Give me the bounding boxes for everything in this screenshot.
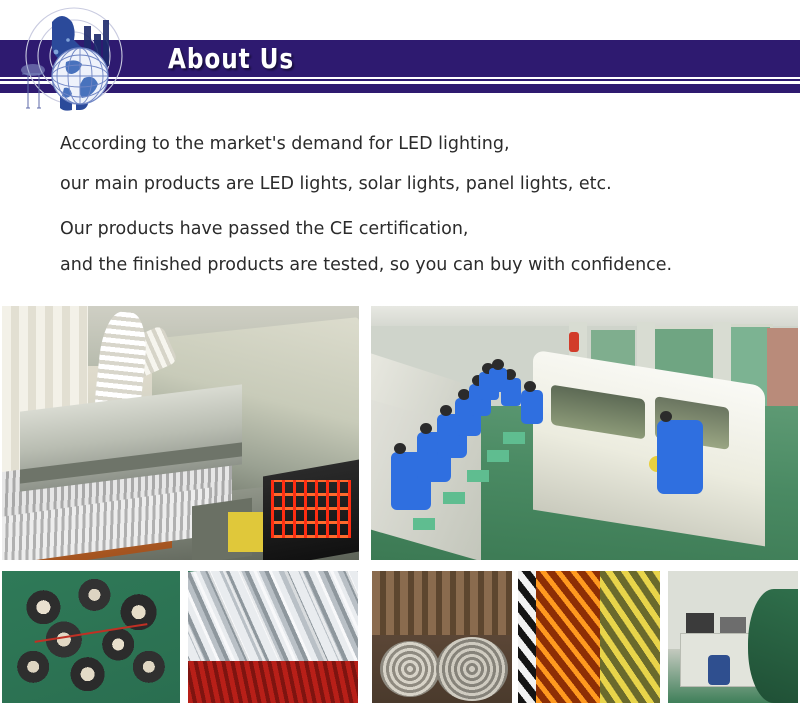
photo-led-tube-lights (188, 571, 358, 703)
photo-reflow-oven-production-line (2, 306, 359, 560)
reel-coil-right (436, 637, 508, 701)
photo-orange-led-strips-lit (518, 571, 600, 703)
indicator-lamps (271, 480, 351, 538)
stool (413, 518, 435, 530)
page-title: About Us (168, 40, 294, 77)
orange-led-rows (536, 571, 600, 703)
stool (443, 492, 465, 504)
photo-led-strip-reels-pile (2, 571, 180, 703)
photo-testing-laboratory (668, 571, 798, 703)
photo-led-strip-reel-stacks (372, 571, 512, 703)
copy-line-1: According to the market's demand for LED… (60, 136, 790, 154)
factory-photo-gallery (0, 306, 800, 706)
copy-line-3: Our products have passed the CE certific… (60, 221, 790, 239)
black-white-stripe-edge (518, 571, 536, 703)
businessman-globe-logo-icon (8, 4, 148, 116)
office-chair (708, 655, 730, 685)
copy-line-4: and the finished products are tested, so… (60, 257, 790, 275)
paragraph-products: According to the market's demand for LED… (60, 136, 790, 193)
worker-operator (657, 420, 703, 494)
page-banner: About Us (0, 0, 800, 120)
photo-yellow-led-strips-lit (600, 571, 660, 703)
about-us-copy: According to the market's demand for LED… (60, 136, 790, 274)
monitor (686, 613, 714, 635)
integrating-sphere (748, 589, 798, 703)
photo-factory-assembly-line (371, 306, 798, 560)
strip-reels (6, 575, 176, 699)
stool (467, 470, 489, 482)
stool (487, 450, 509, 462)
signal-lamp (569, 332, 579, 352)
gallery-row-top (0, 306, 800, 560)
stool (503, 432, 525, 444)
gallery-row-bottom (0, 571, 800, 703)
worker (489, 368, 507, 392)
paragraph-certification: Our products have passed the CE certific… (60, 221, 790, 274)
copy-line-2: our main products are LED lights, solar … (60, 176, 790, 194)
warning-label (228, 512, 264, 552)
reel-coil-left (380, 641, 440, 697)
worker (521, 390, 543, 424)
about-us-page: About Us According to the market's deman… (0, 0, 800, 718)
reel-stacks-background (372, 571, 512, 635)
red-wire-bundle (188, 661, 358, 703)
yellow-led-rows (600, 571, 660, 703)
